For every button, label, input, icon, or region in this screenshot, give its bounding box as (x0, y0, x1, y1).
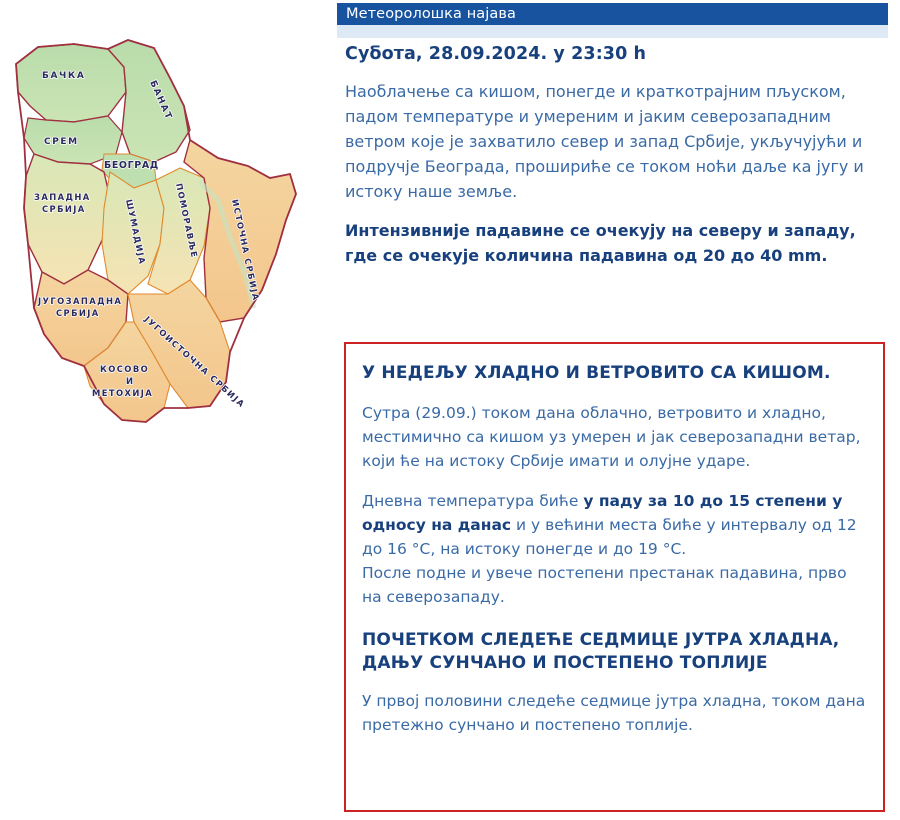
weather-announcement-page: БАЧКА БАНАТ СРЕМ БЕОГРАД ЗАПАДНА СРБИЈА … (0, 0, 900, 820)
next-week-paragraph: У првој половини следеће седмице јутра х… (362, 689, 867, 737)
map-label-jugozapadna-srbija-line2: СРБИЈА (56, 308, 100, 318)
serbia-region-map: БАЧКА БАНАТ СРЕМ БЕОГРАД ЗАПАДНА СРБИЈА … (4, 22, 334, 442)
intro-paragraph: Наоблачење са кишом, понегде и краткотра… (345, 79, 890, 204)
map-label-zapadna-srbija-line2: СРБИЈА (42, 204, 86, 214)
temp-text-lead: Дневна температура биће (362, 492, 583, 510)
header-accent-strip (337, 25, 888, 38)
temperature-paragraph: Дневна температура биће у паду за 10 до … (362, 489, 867, 561)
map-label-zapadna-srbija-line1: ЗАПАДНА (34, 192, 91, 202)
region-banat (108, 40, 190, 162)
map-label-kosovo-line2: И (126, 376, 134, 386)
forecast-body: Субота, 28.09.2024. у 23:30 h Наоблачење… (345, 44, 890, 282)
forecast-panel: Метеоролошка најава Субота, 28.09.2024. … (337, 0, 900, 820)
map-label-jugozapadna-srbija-line1: ЈУГОЗАПАДНА (37, 296, 122, 306)
panel-title: Метеоролошка најава (337, 6, 516, 22)
map-panel: БАЧКА БАНАТ СРЕМ БЕОГРАД ЗАПАДНА СРБИЈА … (0, 0, 337, 820)
map-label-kosovo-line3: МЕТОХИЈА (92, 388, 153, 398)
map-label-kosovo-line1: КОСОВО (100, 364, 149, 374)
region-zapadna-srbija (24, 154, 110, 284)
panel-header-bar: Метеоролошка најава (337, 3, 888, 25)
issue-datetime: Субота, 28.09.2024. у 23:30 h (345, 44, 890, 64)
sunday-headline: У НЕДЕЉУ ХЛАДНО И ВЕТРОВИТО СА КИШОМ. (362, 362, 867, 385)
map-label-srem: СРЕМ (44, 137, 79, 147)
map-label-beograd: БЕОГРАД (104, 160, 159, 171)
next-week-headline: ПОЧЕТКОМ СЛЕДЕЋЕ СЕДМИЦЕ ЈУТРА ХЛАДНА, Д… (362, 629, 867, 675)
afternoon-paragraph: После подне и увече постепени престанак … (362, 561, 867, 609)
sunday-paragraph: Сутра (29.09.) током дана облачно, ветро… (362, 401, 867, 473)
intensity-paragraph: Интензивније падавине се очекују на севе… (345, 218, 890, 268)
region-backa (16, 44, 126, 122)
highlight-box: У НЕДЕЉУ ХЛАДНО И ВЕТРОВИТО СА КИШОМ. Су… (344, 342, 885, 812)
map-label-backa: БАЧКА (42, 71, 85, 81)
